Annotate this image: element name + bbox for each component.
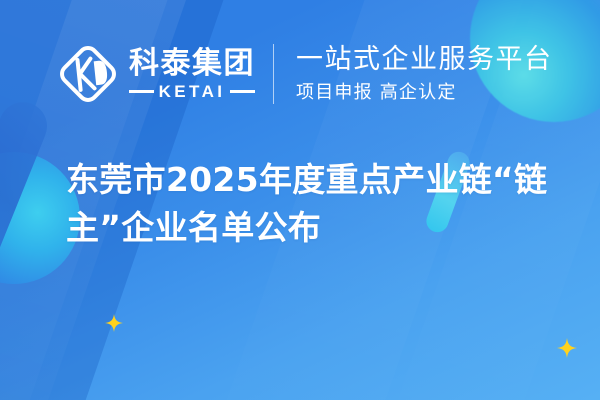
tagline-sub: 项目申报 高企认定	[296, 81, 553, 104]
sparkle-right-icon	[557, 338, 577, 358]
brand-name-en-row: KETAI	[129, 83, 255, 100]
page-title: 东莞市2025年度重点产业链“链主”企业名单公布	[66, 156, 566, 252]
wordmark-dash-left-icon	[129, 90, 154, 93]
tagline-block: 一站式企业服务平台 项目申报 高企认定	[296, 44, 553, 104]
tagline-main: 一站式企业服务平台	[296, 44, 553, 76]
promo-banner: 科泰集团 KETAI 一站式企业服务平台 项目申报 高企认定 东莞市2025年度…	[0, 0, 600, 400]
vertical-divider-icon	[273, 44, 274, 104]
brand-logo[interactable]: 科泰集团 KETAI	[56, 42, 255, 106]
sparkle-left-icon	[105, 314, 123, 332]
banner-header: 科泰集团 KETAI 一站式企业服务平台 项目申报 高企认定	[0, 0, 600, 148]
brand-name-cn: 科泰集团	[129, 48, 255, 80]
ketai-kd-diamond-logo-icon	[56, 42, 120, 106]
wordmark-dash-right-icon	[230, 90, 255, 93]
brand-name-en: KETAI	[159, 83, 226, 100]
brand-wordmark: 科泰集团 KETAI	[129, 48, 255, 99]
